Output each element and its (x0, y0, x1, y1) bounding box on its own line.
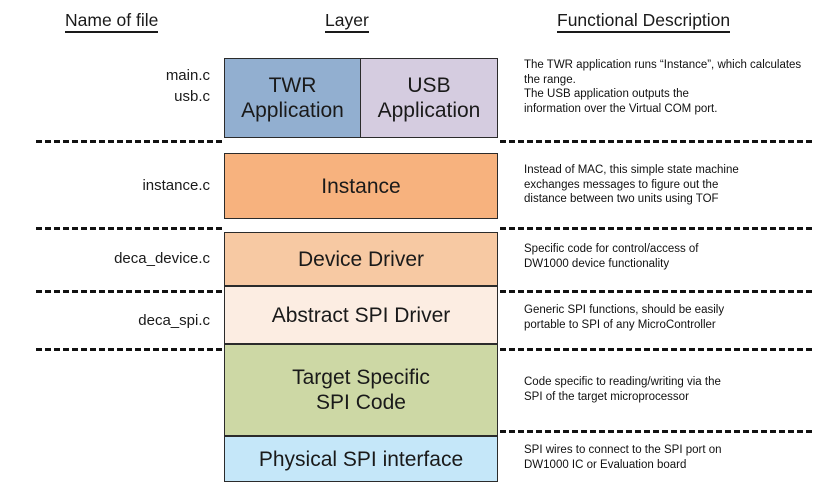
row-separator-right-5 (500, 430, 812, 433)
column-header-functional-description: Functional Description (557, 10, 730, 33)
row-separator-right-3 (500, 290, 812, 293)
filename-label-row-1: main.c usb.c (166, 65, 210, 107)
layer-box-abstract-spi-driver[interactable]: Abstract SPI Driver (224, 286, 498, 344)
description-row-2: Instead of MAC, this simple state machin… (524, 163, 814, 207)
layer-box-application-row[interactable]: TWR Application USB Application (224, 58, 498, 138)
layer-box-instance[interactable]: Instance (224, 153, 498, 219)
row-separator-left-4 (36, 348, 222, 351)
filename-label-row-2: instance.c (142, 175, 210, 196)
layer-box-twr-application[interactable]: TWR Application (225, 59, 361, 137)
architecture-diagram: Name of file Layer Functional Descriptio… (0, 0, 818, 492)
filename-label-row-3: deca_device.c (114, 248, 210, 269)
description-row-3: Specific code for control/access of DW10… (524, 242, 814, 271)
description-row-5: Code specific to reading/writing via the… (524, 375, 814, 404)
column-header-name-of-file: Name of file (65, 10, 158, 33)
layer-box-target-specific-spi-code[interactable]: Target Specific SPI Code (224, 344, 498, 436)
layer-box-physical-spi-interface[interactable]: Physical SPI interface (224, 436, 498, 482)
layer-box-usb-application[interactable]: USB Application (361, 59, 497, 137)
layer-box-device-driver[interactable]: Device Driver (224, 232, 498, 286)
description-row-1: The TWR application runs “Instance”, whi… (524, 58, 814, 116)
description-row-4: Generic SPI functions, should be easily … (524, 303, 814, 332)
row-separator-right-2 (500, 227, 812, 230)
row-separator-left-1 (36, 140, 222, 143)
column-header-layer: Layer (325, 10, 369, 33)
row-separator-right-1 (500, 140, 812, 143)
filename-label-row-4: deca_spi.c (138, 310, 210, 331)
row-separator-left-3 (36, 290, 222, 293)
row-separator-right-4 (500, 348, 812, 351)
row-separator-left-2 (36, 227, 222, 230)
description-row-6: SPI wires to connect to the SPI port on … (524, 443, 814, 472)
